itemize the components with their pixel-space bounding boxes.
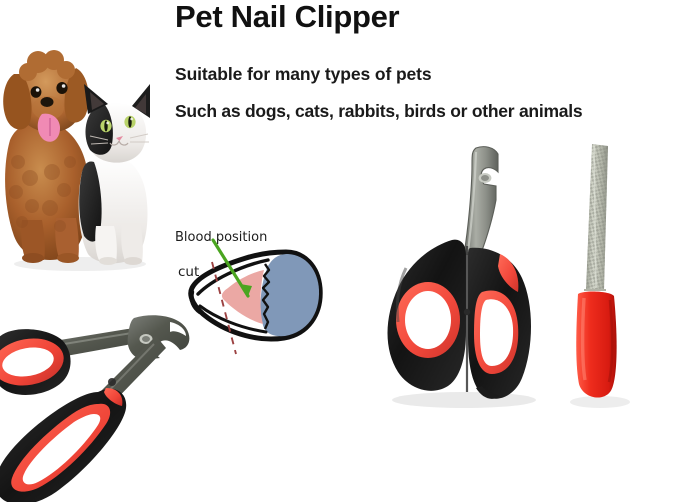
blood-position-label: Blood position xyxy=(175,230,267,245)
clipper-right-handle xyxy=(468,248,531,399)
dog-figure xyxy=(3,50,89,263)
clipper-left-handle xyxy=(388,240,467,391)
cat-figure xyxy=(79,84,150,265)
file-handle xyxy=(576,292,616,398)
dog-and-cat-photo xyxy=(0,22,168,272)
page-title: Pet Nail Clipper xyxy=(175,0,399,35)
subtitle-line-1: Suitable for many types of pets xyxy=(175,64,432,85)
file-blade xyxy=(586,144,608,290)
clipper-blade xyxy=(464,147,498,256)
subtitle-line-2: Such as dogs, cats, rabbits, birds or ot… xyxy=(175,101,582,122)
scissor-clipper-open xyxy=(0,292,204,502)
open-clipper-upper-arm xyxy=(0,315,189,395)
infographic-canvas: Pet Nail Clipper Suitable for many types… xyxy=(0,0,679,501)
nail-file xyxy=(548,142,660,410)
cut-label: cut xyxy=(178,264,199,280)
scissor-clipper-closed xyxy=(372,142,550,410)
